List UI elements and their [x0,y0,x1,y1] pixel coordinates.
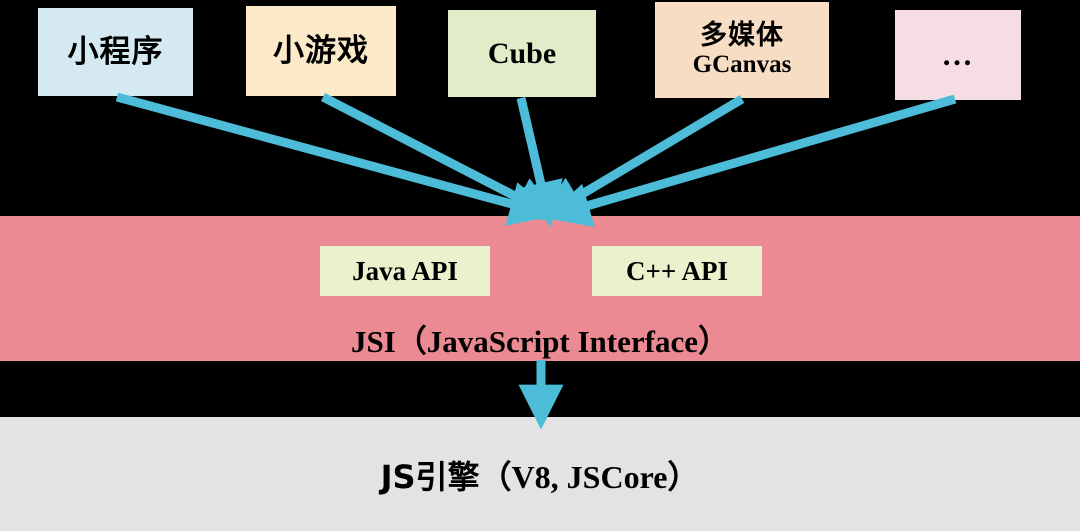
consumer-box-multimedia[interactable]: 多媒体 GCanvas [655,2,829,98]
consumer-box-cube[interactable]: Cube [448,10,596,97]
js-engine-label-latin: （V8, JSCore） [480,459,700,495]
arrow-cube-to-jsi [521,98,546,206]
arrow-minigame-to-jsi [323,97,540,209]
arrow-miniprogram-to-jsi [117,97,534,210]
consumer-box-miniprogram[interactable]: 小程序 [38,8,193,96]
js-engine-label-cjk: JS引擎 [381,458,480,496]
diagram-canvas: 小程序 小游戏 Cube 多媒体 GCanvas … Java API [0,0,1080,531]
api-box-cpp[interactable]: C++ API [592,246,762,296]
consumer-box-ellipsis[interactable]: … [895,10,1021,100]
consumer-label-ellipsis: … [942,39,975,72]
consumer-sublabel-gcanvas: GCanvas [693,52,792,78]
jsi-layer-label: JSI（JavaScript Interface） [0,316,1080,361]
api-box-java[interactable]: Java API [320,246,490,296]
arrow-multimedia-to-jsi [557,99,742,209]
consumer-label-minigame: 小游戏 [273,35,369,68]
consumer-label-cube: Cube [488,38,556,70]
consumer-label-miniprogram: 小程序 [68,36,164,69]
arrow-ellipsis-to-jsi [566,99,955,212]
consumer-box-minigame[interactable]: 小游戏 [246,6,396,96]
api-label-cpp: C++ API [626,256,728,287]
js-engine-layer-label: JS引擎（V8, JSCore） [0,452,1080,498]
api-label-java: Java API [352,256,458,287]
consumer-label-multimedia: 多媒体 [700,22,784,50]
